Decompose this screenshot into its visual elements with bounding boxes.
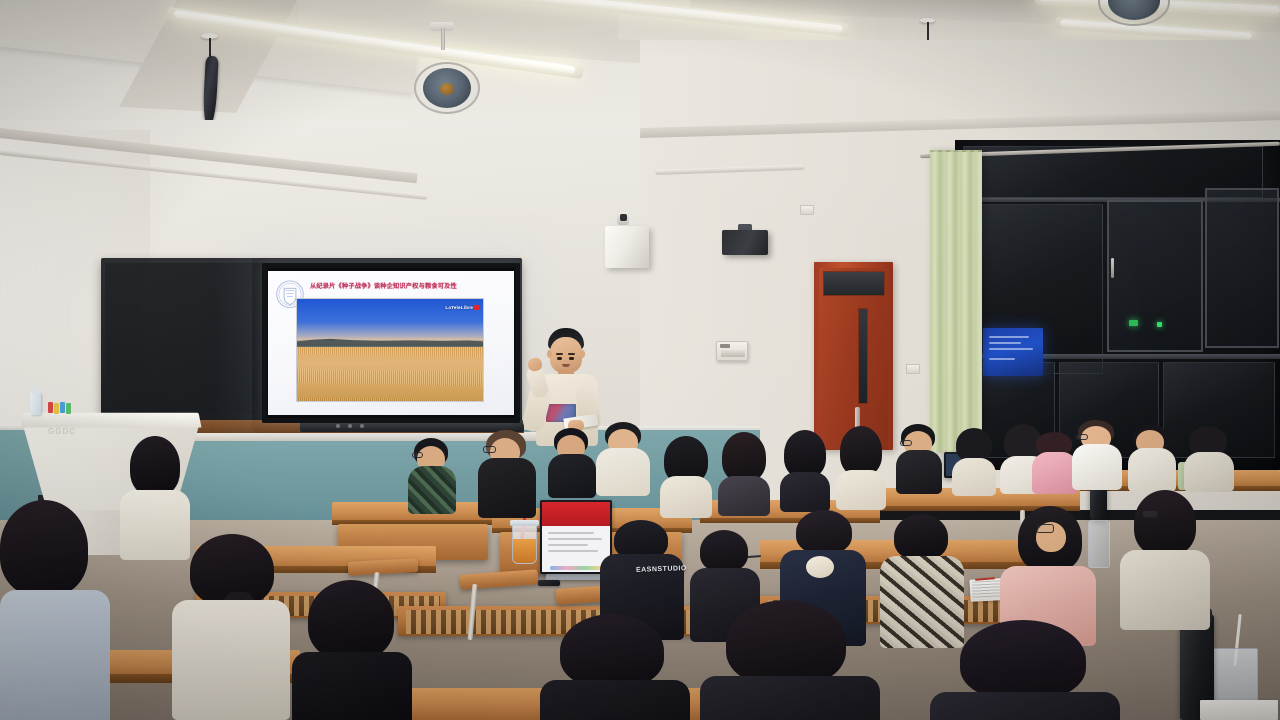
- student-foreground-ponytail: [172, 534, 290, 720]
- wall-outlet-lower[interactable]: [906, 364, 920, 374]
- photo-watermark: LaTeleLibre: [445, 305, 479, 310]
- presenter-head: [550, 337, 582, 373]
- student-black-hoodie: [478, 430, 536, 516]
- door-transom-window: [823, 271, 885, 296]
- classroom-photo: 从纪录片《种子战争》谈种企知识产权与粮食可及性 LaTeleLibre: [0, 0, 1280, 720]
- student-back-3: [1128, 424, 1176, 486]
- electrical-panel: [716, 341, 748, 361]
- slide-photo: LaTeleLibre: [296, 298, 484, 402]
- student-back-4: [1184, 426, 1234, 488]
- marker-green[interactable]: [66, 403, 71, 414]
- student-long-hair-4: [836, 426, 886, 498]
- drink-cup-lid: [510, 520, 539, 526]
- student-foreground-far-right: [930, 620, 1120, 720]
- wall-camera-lens-icon: [620, 214, 627, 221]
- student-foreground-right: [700, 600, 880, 720]
- student-foreground-far-left: [0, 500, 110, 720]
- wall-speaker: [722, 230, 768, 255]
- presentation-slide: 从纪录片《种子战争》谈种企知识产权与粮食可及性 LaTeleLibre: [268, 271, 514, 415]
- smartphone-center[interactable]: [538, 580, 560, 586]
- glasses-hoodie-student: [483, 446, 496, 453]
- glasses-plaid-student: [412, 452, 423, 458]
- watermark-text: LaTeleLibre: [445, 305, 473, 310]
- photo-wheat-field: [297, 347, 483, 401]
- student-long-hair-1: [660, 436, 712, 506]
- panel-label: [720, 344, 730, 348]
- marker-red[interactable]: [48, 402, 53, 413]
- presenter-ear-left: [547, 350, 552, 358]
- student-white-blouse: [1072, 420, 1122, 486]
- window-sash-1[interactable]: [1107, 200, 1203, 352]
- marker-yellow[interactable]: [54, 403, 59, 414]
- reflected-monitor: [983, 328, 1043, 376]
- slide-title: 从纪录片《种子战争》谈种企知识产权与粮食可及性: [310, 283, 510, 291]
- glasses-white-blouse: [1075, 434, 1088, 440]
- watermark-badge-icon: [474, 305, 479, 310]
- marker-blue[interactable]: [60, 402, 65, 413]
- presenter-ear-right: [580, 350, 585, 358]
- wall-outlet-upper[interactable]: [800, 205, 814, 215]
- student-far-right-long: [1120, 490, 1210, 620]
- glasses-pink-student: [1036, 524, 1054, 533]
- window-handle-1[interactable]: [1111, 258, 1114, 278]
- drink-cup[interactable]: [512, 524, 537, 564]
- wall-camera-unit: [605, 226, 649, 268]
- student-long-hair-2: [718, 432, 770, 504]
- student-cream-top: [596, 422, 650, 488]
- drink-liquid: [513, 539, 536, 563]
- paper-foreground[interactable]: [1200, 700, 1278, 720]
- student-long-hair-3: [780, 430, 830, 500]
- glasses-far-right: [1142, 510, 1158, 518]
- display-screen[interactable]: 从纪录片《种子战争》谈种企知识产权与粮食可及性 LaTeleLibre: [262, 263, 520, 423]
- student-plaid: [408, 438, 456, 508]
- lectern-logo: GGDC: [48, 427, 76, 436]
- door-vision-panel: [858, 308, 868, 404]
- student-foreground-center: [540, 614, 690, 720]
- fan-hub-left: [440, 83, 454, 95]
- exit-indicator-green-1: [1129, 320, 1138, 326]
- mic-cable-2: [927, 22, 929, 42]
- student-near-left-1: [120, 436, 190, 546]
- fan-rod-left: [441, 28, 445, 50]
- student-dark-short: [548, 428, 596, 492]
- hair-scrunchie: [806, 556, 834, 578]
- exit-indicator-green-2: [1157, 322, 1162, 327]
- student-patterned-top: [880, 514, 964, 634]
- laptop-dock: [550, 566, 602, 570]
- classroom-door[interactable]: [814, 262, 893, 450]
- lectern-top: [20, 413, 201, 428]
- panel-breaker-slot: [721, 350, 745, 357]
- hand-sanitizer[interactable]: [30, 392, 41, 415]
- glasses-back-student: [900, 440, 912, 446]
- student-back-1: [952, 428, 996, 490]
- student-foreground-center-left: [292, 580, 412, 720]
- window-sash-2[interactable]: [1205, 188, 1279, 348]
- student-glasses-back: [896, 424, 942, 490]
- sanitizer-pump-icon: [32, 386, 39, 394]
- sage-curtain[interactable]: [930, 152, 982, 452]
